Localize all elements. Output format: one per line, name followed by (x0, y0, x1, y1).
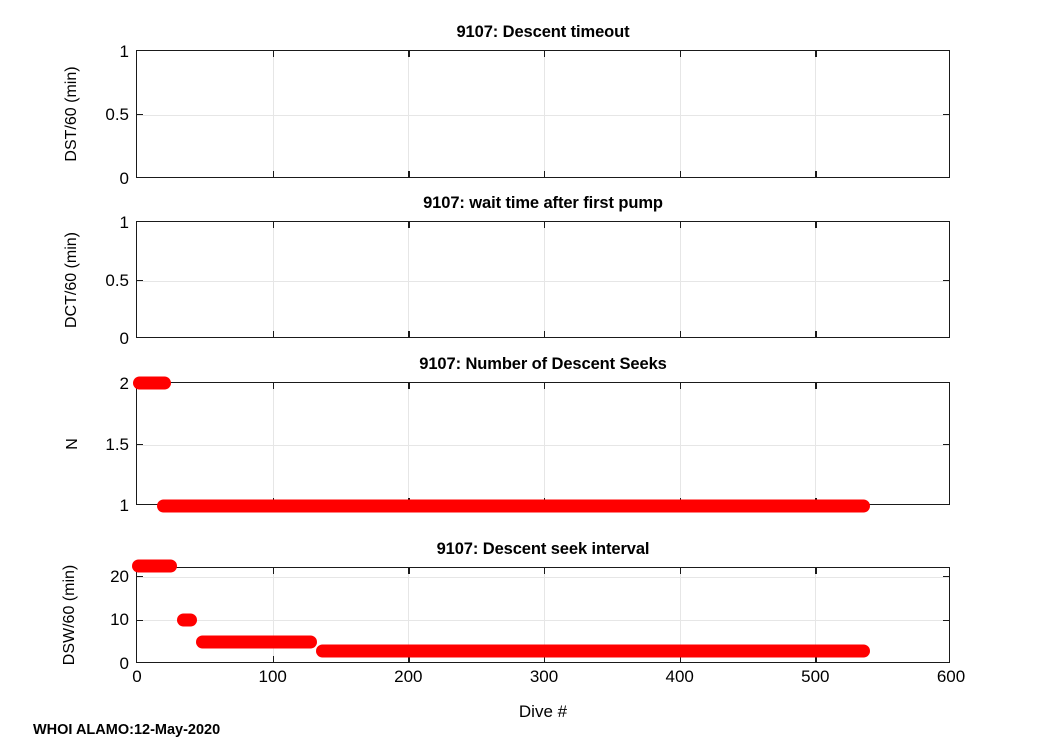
y-tick (137, 576, 143, 577)
gridline-y (137, 577, 949, 578)
x-tick (544, 171, 545, 177)
plot-area: 0 0.5 1 (136, 221, 950, 338)
matlab-figure: 9107: Descent timeout DST/60 (min) 0 0.5… (0, 0, 1050, 750)
gridline-x (815, 51, 816, 177)
y-tick-label: 20 (110, 567, 129, 587)
x-tick (273, 171, 274, 177)
gridline-x (408, 222, 409, 337)
x-tick (408, 51, 409, 57)
x-tick-label: 0 (132, 667, 141, 687)
x-tick (680, 568, 681, 574)
gridline-x (273, 51, 274, 177)
x-tick-label: 500 (801, 667, 829, 687)
x-tick (680, 51, 681, 57)
x-tick (273, 331, 274, 337)
y-tick-label: 10 (110, 610, 129, 630)
y-tick (137, 114, 143, 115)
x-tick (273, 568, 274, 574)
data-segment (133, 377, 171, 390)
y-axis-label: DSW/60 (min) (61, 565, 79, 665)
y-tick-label: 0 (120, 169, 129, 189)
y-tick (137, 280, 143, 281)
x-tick (273, 222, 274, 228)
x-tick (544, 222, 545, 228)
y-tick (943, 620, 949, 621)
y-tick (943, 576, 949, 577)
y-tick (137, 620, 143, 621)
subplot-number-of-descent-seeks: 9107: Number of Descent Seeks N 1 1.5 2 (136, 382, 950, 505)
plot-area: 0 0.5 1 (136, 50, 950, 178)
gridline-x (408, 51, 409, 177)
x-tick (815, 383, 816, 389)
x-tick (408, 331, 409, 337)
x-tick (408, 383, 409, 389)
x-tick (680, 222, 681, 228)
y-tick (943, 114, 949, 115)
x-tick (815, 568, 816, 574)
x-tick (680, 331, 681, 337)
y-tick-label: 0.5 (105, 105, 129, 125)
gridline-y (137, 115, 949, 116)
x-tick (680, 383, 681, 389)
x-tick (815, 222, 816, 228)
subplot-descent-seek-interval: 9107: Descent seek interval DSW/60 (min) (136, 567, 950, 663)
gridline-x (815, 222, 816, 337)
subplot-descent-timeout: 9107: Descent timeout DST/60 (min) 0 0.5… (136, 50, 950, 178)
x-tick-label: 300 (530, 667, 558, 687)
x-tick-label: 400 (666, 667, 694, 687)
x-tick-label: 600 (937, 667, 965, 687)
x-tick-label: 100 (259, 667, 287, 687)
panel-title: 9107: wait time after first pump (136, 194, 950, 213)
x-tick (273, 51, 274, 57)
y-tick-label: 1 (120, 213, 129, 233)
y-tick-label: 0 (120, 329, 129, 349)
gridline-x (408, 383, 409, 504)
x-tick (544, 383, 545, 389)
data-segment (196, 636, 317, 649)
data-segment (316, 644, 870, 657)
x-tick-label: 200 (394, 667, 422, 687)
x-tick (544, 51, 545, 57)
gridline-x (273, 222, 274, 337)
data-segment (132, 560, 177, 573)
data-segment (177, 614, 197, 627)
gridline-y (137, 445, 949, 446)
gridline-x (680, 222, 681, 337)
subplot-wait-time-after-first-pump: 9107: wait time after first pump DCT/60 … (136, 221, 950, 338)
y-axis-label: N (64, 438, 82, 450)
x-tick (544, 568, 545, 574)
gridline-x (544, 383, 545, 504)
y-tick (943, 280, 949, 281)
gridline-x (273, 383, 274, 504)
x-axis-label: Dive # (519, 702, 567, 722)
panel-title: 9107: Number of Descent Seeks (136, 355, 950, 374)
x-tick (544, 331, 545, 337)
data-segment (157, 500, 870, 513)
gridline-x (544, 222, 545, 337)
y-tick-label: 1.5 (105, 435, 129, 455)
x-tick (273, 383, 274, 389)
x-tick (273, 656, 274, 662)
y-tick (137, 444, 143, 445)
gridline-x (680, 383, 681, 504)
gridline-x (815, 383, 816, 504)
gridline-x (544, 51, 545, 177)
x-tick (680, 171, 681, 177)
plot-area: 0 10 20 0 100 200 300 400 500 600 (136, 567, 950, 663)
x-tick (815, 171, 816, 177)
y-tick-label: 0.5 (105, 271, 129, 291)
panel-title: 9107: Descent seek interval (136, 540, 950, 559)
y-tick-label: 1 (120, 496, 129, 516)
y-tick-label: 0 (120, 654, 129, 674)
y-tick-label: 2 (120, 374, 129, 394)
figure-footer: WHOI ALAMO:12-May-2020 (33, 722, 220, 738)
y-axis-label: DCT/60 (min) (63, 231, 81, 327)
x-tick (408, 222, 409, 228)
panel-title: 9107: Descent timeout (136, 23, 950, 42)
x-tick (815, 51, 816, 57)
y-axis-label: DST/60 (min) (63, 66, 81, 161)
gridline-y (137, 281, 949, 282)
x-tick (815, 331, 816, 337)
gridline-x (680, 51, 681, 177)
plot-area: 1 1.5 2 (136, 382, 950, 505)
y-tick-label: 1 (120, 42, 129, 62)
y-tick (943, 444, 949, 445)
gridline-y (137, 620, 949, 621)
x-tick (408, 171, 409, 177)
x-tick (408, 568, 409, 574)
